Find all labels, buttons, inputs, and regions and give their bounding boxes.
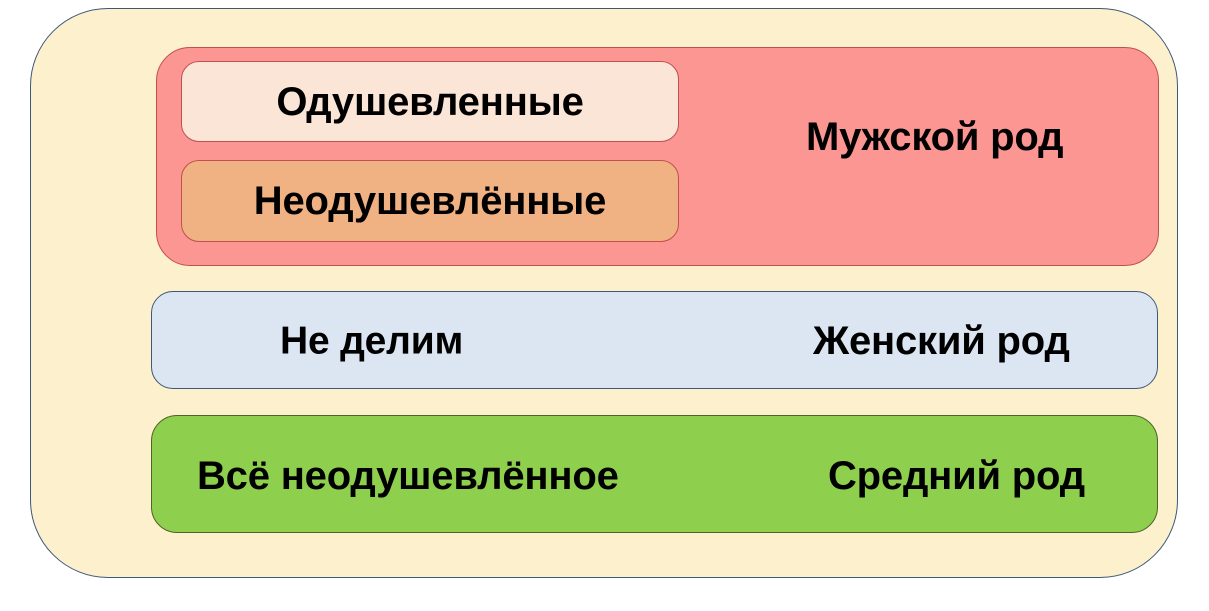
animate-nouns-label: Одушевленные [276, 82, 583, 122]
inanimate-nouns-label: Неодушевлённые [254, 181, 606, 221]
diagram-canvas: Одушевленные Неодушевлённые Мужской род … [0, 0, 1209, 611]
masculine-gender-label: Мужской род [806, 117, 1063, 157]
inanimate-nouns-box: Неодушевлённые [181, 160, 679, 242]
outer-container: Одушевленные Неодушевлённые Мужской род … [30, 8, 1178, 578]
neuter-gender-label: Средний род [828, 456, 1085, 496]
feminine-description-label: Не делим [280, 322, 463, 361]
neuter-description-label: Всё неодушевлённое [197, 456, 619, 496]
feminine-gender-label: Женский род [813, 321, 1070, 361]
animate-nouns-box: Одушевленные [181, 61, 679, 142]
